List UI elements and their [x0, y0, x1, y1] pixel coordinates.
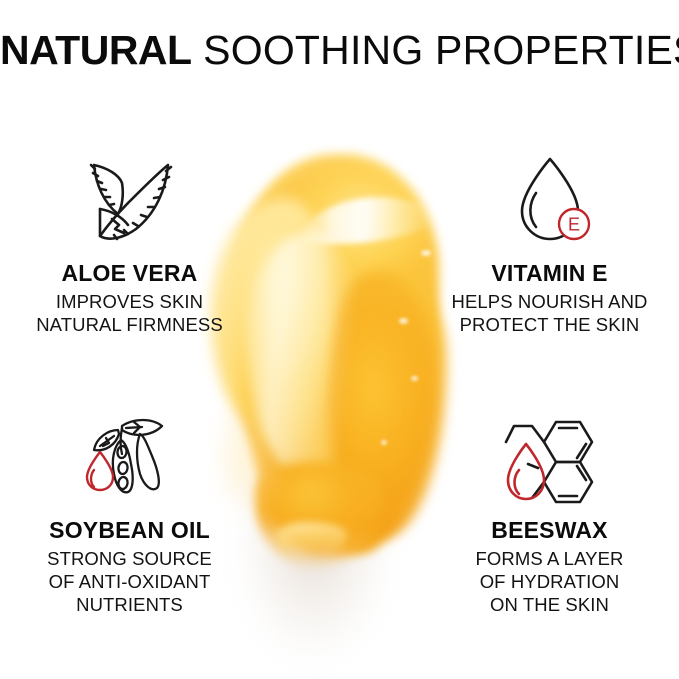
- aloe-leaf-icon: [78, 151, 182, 255]
- feature-description: IMPROVES SKIN NATURAL FIRMNESS: [2, 290, 257, 336]
- feature-desc-line: IMPROVES SKIN: [2, 290, 257, 313]
- feature-title: ALOE VERA: [2, 260, 257, 287]
- feature-description: STRONG SOURCE OF ANTI-OXIDANT NUTRIENTS: [2, 547, 257, 616]
- feature-desc-line: ON THE SKIN: [422, 593, 677, 616]
- oil-droplet-icon: [87, 452, 113, 490]
- feature-icon-container: [422, 405, 677, 515]
- feature-soybean-oil: SOYBEAN OIL STRONG SOURCE OF ANTI-OXIDAN…: [2, 405, 257, 616]
- feature-desc-line: PROTECT THE SKIN: [422, 313, 677, 336]
- feature-title: BEESWAX: [422, 517, 677, 544]
- feature-desc-line: OF ANTI-OXIDANT: [2, 570, 257, 593]
- swatch-specular-dot: [399, 318, 408, 324]
- feature-desc-line: NUTRIENTS: [2, 593, 257, 616]
- feature-aloe-vera: ALOE VERA IMPROVES SKIN NATURAL FIRMNESS: [2, 148, 257, 336]
- feature-beeswax: BEESWAX FORMS A LAYER OF HYDRATION ON TH…: [422, 405, 677, 616]
- feature-desc-line: FORMS A LAYER: [422, 547, 677, 570]
- honeycomb-hexagon-icon: [498, 408, 602, 512]
- feature-desc-line: OF HYDRATION: [422, 570, 677, 593]
- swatch-specular-dot: [411, 376, 418, 381]
- droplet-vitamin-e-icon: E: [498, 151, 602, 255]
- soybean-pod-icon: [78, 408, 182, 512]
- page-title: NATURAL SOOTHING PROPERTIES: [0, 26, 679, 74]
- page-title-bold: NATURAL: [0, 27, 192, 73]
- feature-desc-line: HELPS NOURISH AND: [422, 290, 677, 313]
- infographic-page: NATURAL SOOTHING PROPERTIES: [0, 0, 679, 679]
- feature-vitamin-e: E VITAMIN E HELPS NOURISH AND PROTECT TH…: [422, 148, 677, 336]
- feature-icon-container: E: [422, 148, 677, 258]
- feature-desc-line: NATURAL FIRMNESS: [2, 313, 257, 336]
- feature-icon-container: [2, 148, 257, 258]
- feature-icon-container: [2, 405, 257, 515]
- feature-description: FORMS A LAYER OF HYDRATION ON THE SKIN: [422, 547, 677, 616]
- feature-desc-line: STRONG SOURCE: [2, 547, 257, 570]
- feature-description: HELPS NOURISH AND PROTECT THE SKIN: [422, 290, 677, 336]
- swatch-specular-dot: [381, 440, 387, 445]
- page-title-light: SOOTHING PROPERTIES: [192, 27, 679, 73]
- vitamin-e-badge-letter: E: [567, 215, 579, 235]
- feature-title: VITAMIN E: [422, 260, 677, 287]
- feature-title: SOYBEAN OIL: [2, 517, 257, 544]
